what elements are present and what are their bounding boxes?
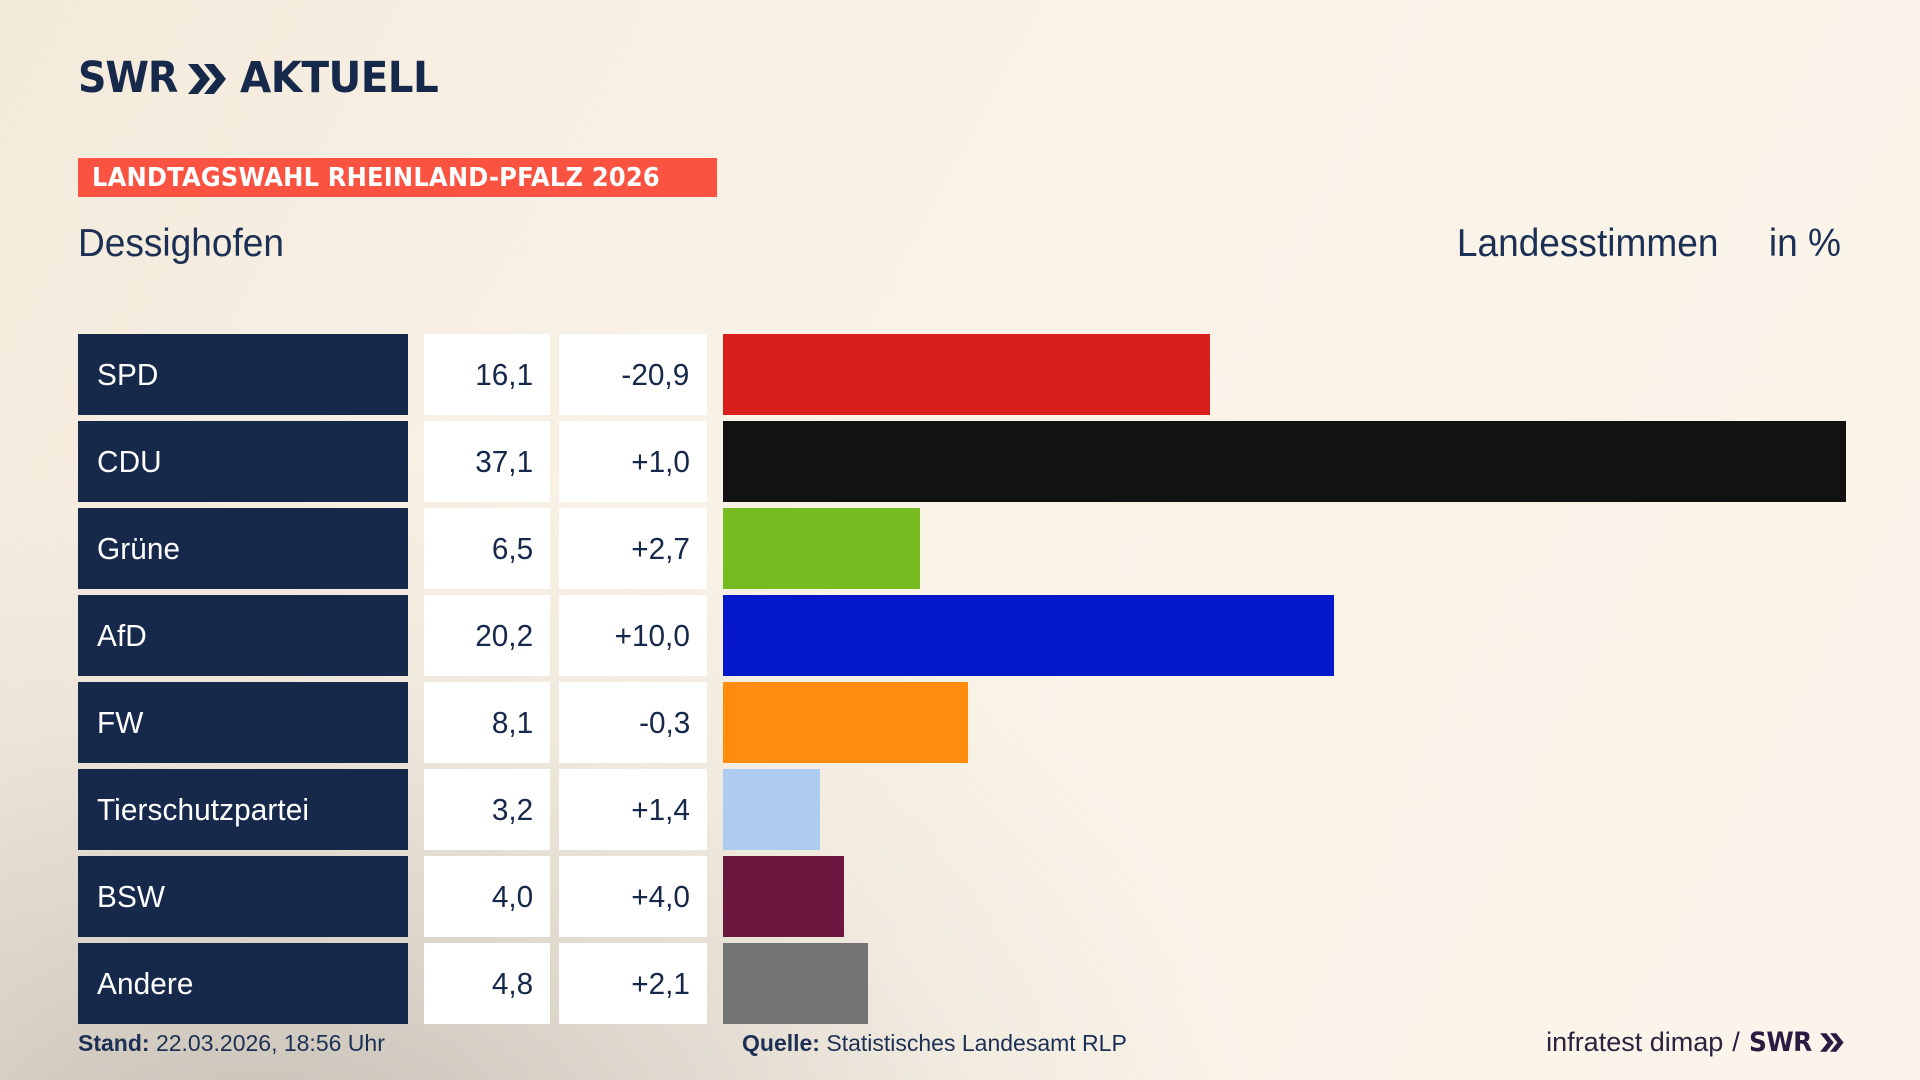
bar-track [723,769,1888,850]
bar-track [723,595,1888,676]
vote-share-value: 20,2 [475,618,533,654]
bar-cdu [723,421,1846,502]
change-value: +4,0 [631,879,690,915]
change-value: -0,3 [639,705,690,741]
party-label: AfD [97,618,147,654]
subheader: Dessighofen Landesstimmen in % [78,222,1843,266]
table-row: BSW4,0+4,0 [78,856,1888,937]
party-name-cell: CDU [78,421,408,502]
party-label: SPD [97,357,158,393]
swr-aktuell-logo: SWR AKTUELL [78,52,451,104]
change-cell: +4,0 [559,856,707,937]
party-name-cell: Tierschutzpartei [78,769,408,850]
election-banner: LANDTAGSWAHL RHEINLAND-PFALZ 2026 [78,158,717,197]
election-banner-text: LANDTAGSWAHL RHEINLAND-PFALZ 2026 [92,165,660,191]
change-cell: -20,9 [559,334,707,415]
bar-track [723,334,1888,415]
vote-share-cell: 4,8 [424,943,550,1024]
table-row: FW8,1-0,3 [78,682,1888,763]
bar-tierschutzpartei [723,769,820,850]
vote-share-cell: 8,1 [424,682,550,763]
change-value: -20,9 [622,357,690,393]
vote-share-value: 3,2 [492,792,533,828]
credit: infratest dimap / SWR [1546,1027,1846,1058]
vote-type-label: Landesstimmen [1457,222,1719,266]
change-value: +1,4 [631,792,690,828]
table-row: AfD20,2+10,0 [78,595,1888,676]
change-cell: -0,3 [559,682,707,763]
quelle-value: Statistisches Landesamt RLP [826,1030,1126,1056]
double-chevron-right-icon [187,62,229,96]
stand-label: Stand: [78,1030,150,1056]
unit-label: in % [1769,222,1841,266]
results-bar-chart: SPD16,1-20,9CDU37,1+1,0Grüne6,5+2,7AfD20… [78,334,1888,1030]
table-row: Tierschutzpartei3,2+1,4 [78,769,1888,850]
change-value: +2,7 [631,531,690,567]
party-name-cell: Andere [78,943,408,1024]
double-chevron-right-icon [1819,1029,1846,1060]
table-row: CDU37,1+1,0 [78,421,1888,502]
vote-share-value: 16,1 [475,357,533,393]
bar-bsw [723,856,844,937]
swr-wordmark: SWR [78,57,177,100]
column-headers: Landesstimmen in % [1450,222,1843,266]
party-name-cell: BSW [78,856,408,937]
change-cell: +1,4 [559,769,707,850]
party-label: BSW [97,879,165,915]
party-label: Tierschutzpartei [97,792,309,828]
party-label: FW [97,705,143,741]
vote-share-cell: 37,1 [424,421,550,502]
aktuell-wordmark: AKTUELL [240,57,438,100]
credit-swr-wordmark: SWR [1749,1027,1812,1058]
change-cell: +2,1 [559,943,707,1024]
vote-share-value: 4,0 [492,879,533,915]
party-name-cell: SPD [78,334,408,415]
bar-spd [723,334,1210,415]
page-title: Dessighofen [78,222,284,266]
quelle-label: Quelle: [742,1030,820,1056]
change-cell: +1,0 [559,421,707,502]
vote-share-cell: 4,0 [424,856,550,937]
bar-track [723,421,1888,502]
credit-separator: / [1732,1027,1740,1058]
change-cell: +10,0 [559,595,707,676]
bar-afd [723,595,1334,676]
party-label: CDU [97,444,162,480]
vote-share-cell: 16,1 [424,334,550,415]
bar-track [723,682,1888,763]
table-row: Andere4,8+2,1 [78,943,1888,1024]
bar-grüne [723,508,920,589]
source-info: Quelle: Statistisches Landesamt RLP [742,1030,1127,1057]
change-value: +1,0 [631,444,690,480]
bar-track [723,943,1888,1024]
stand-value: 22.03.2026, 18:56 Uhr [156,1030,385,1056]
bar-andere [723,943,868,1024]
change-value: +2,1 [631,966,690,1002]
bar-track [723,856,1888,937]
change-value: +10,0 [614,618,689,654]
credit-institute: infratest dimap [1546,1027,1723,1058]
vote-share-cell: 3,2 [424,769,550,850]
infographic-root: SWR AKTUELL LANDTAGSWAHL RHEINLAND-PFALZ… [0,0,1920,1080]
bar-track [723,508,1888,589]
vote-share-value: 8,1 [492,705,533,741]
stand-info: Stand: 22.03.2026, 18:56 Uhr [78,1030,385,1057]
change-cell: +2,7 [559,508,707,589]
party-name-cell: Grüne [78,508,408,589]
vote-share-cell: 6,5 [424,508,550,589]
party-name-cell: FW [78,682,408,763]
vote-share-value: 37,1 [475,444,533,480]
vote-share-value: 6,5 [492,531,533,567]
table-row: Grüne6,5+2,7 [78,508,1888,589]
party-name-cell: AfD [78,595,408,676]
vote-share-value: 4,8 [492,966,533,1002]
party-label: Grüne [97,531,180,567]
party-label: Andere [97,966,194,1002]
table-row: SPD16,1-20,9 [78,334,1888,415]
vote-share-cell: 20,2 [424,595,550,676]
bar-fw [723,682,968,763]
footer: Stand: 22.03.2026, 18:56 Uhr Quelle: Sta… [78,1030,1846,1064]
